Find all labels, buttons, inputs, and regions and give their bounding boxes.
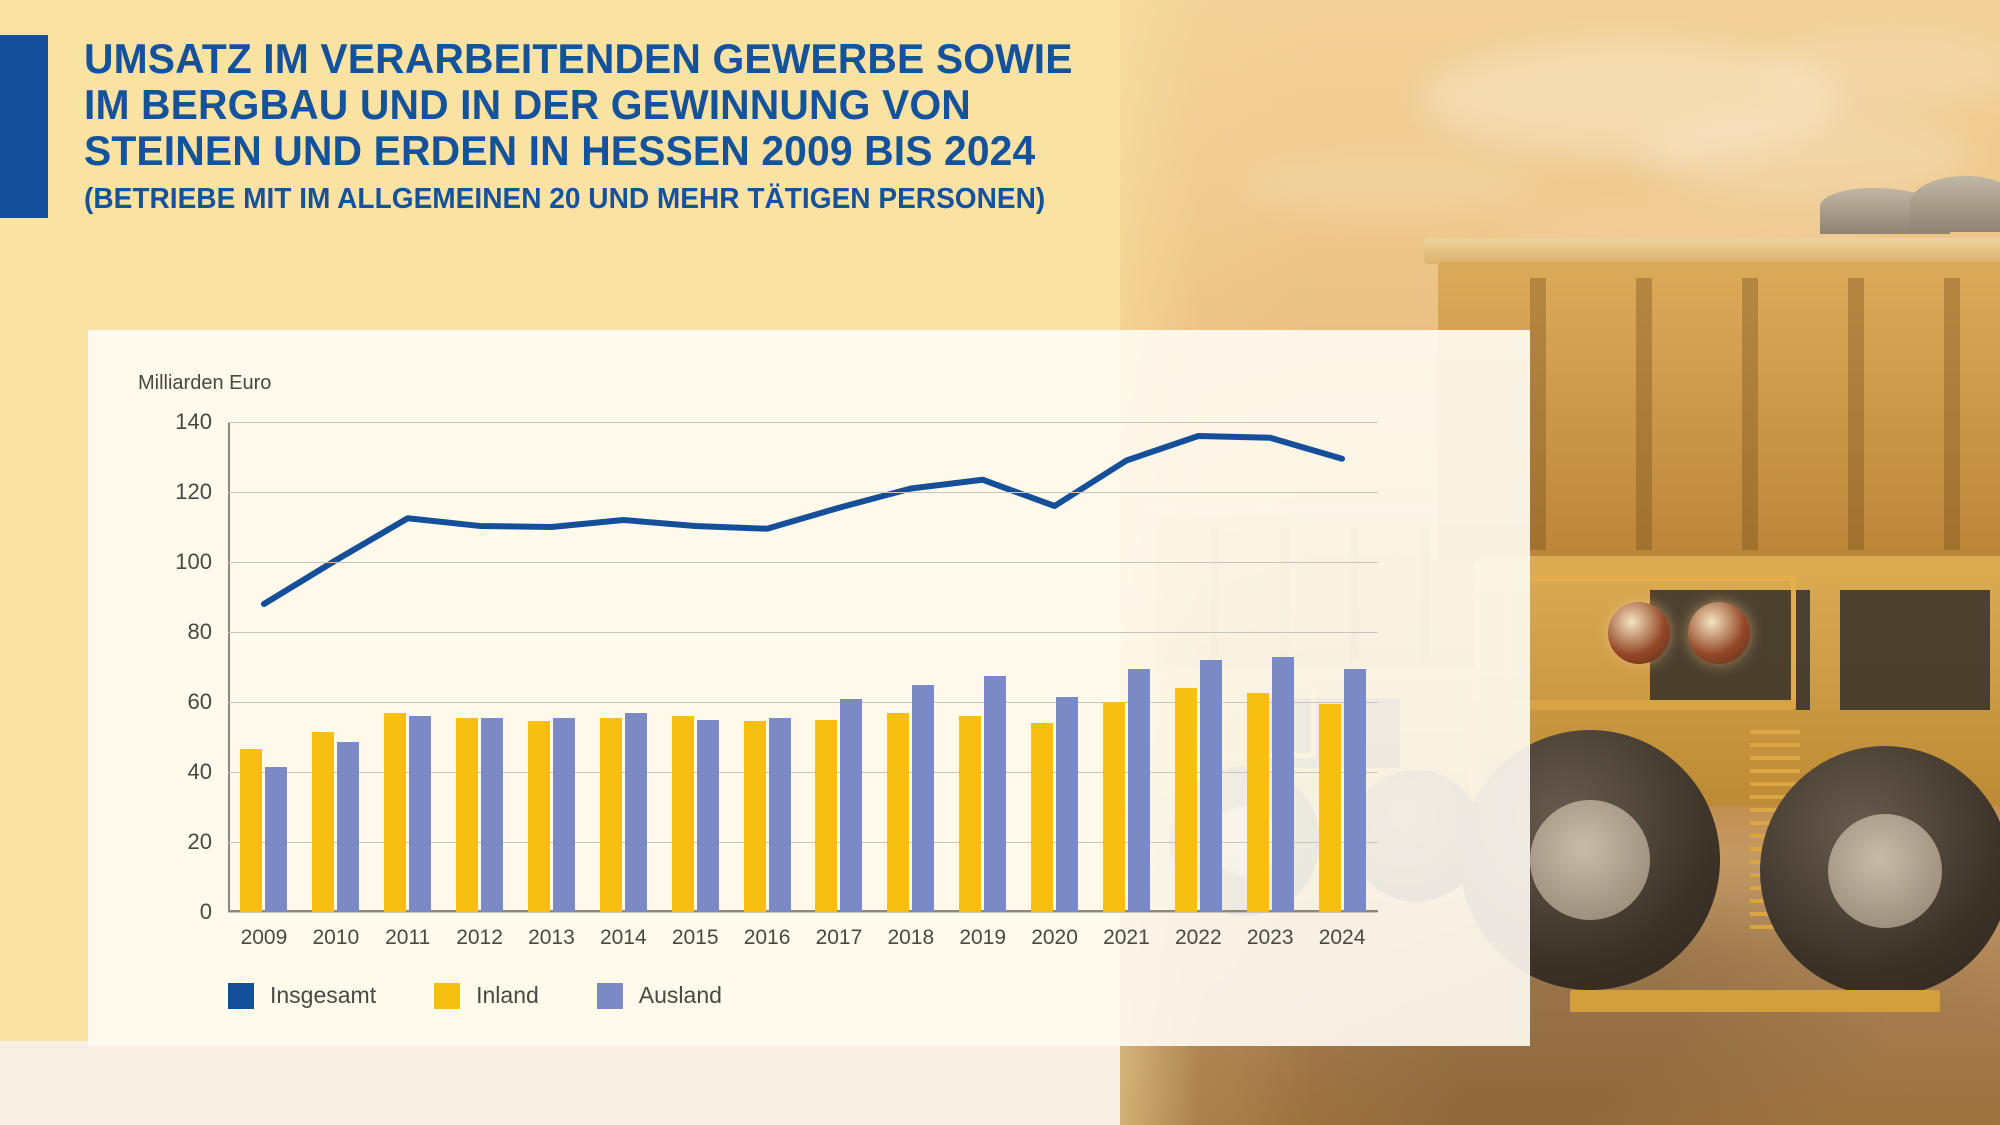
infographic-stage: UMSATZ IM VERARBEITENDEN GEWERBE SOWIE I… <box>0 0 2000 1125</box>
y-axis-tick-label: 140 <box>175 409 212 435</box>
legend-label: Ausland <box>639 982 722 1009</box>
bar-inland <box>887 713 909 913</box>
title-block: UMSATZ IM VERARBEITENDEN GEWERBE SOWIE I… <box>84 36 1094 216</box>
chart-legend: InsgesamtInlandAusland <box>228 982 780 1009</box>
bar-ausland <box>912 685 934 913</box>
accent-bar <box>0 35 48 218</box>
bar-inland <box>384 713 406 913</box>
y-axis-tick-label: 100 <box>175 549 212 575</box>
legend-swatch-icon <box>434 983 460 1009</box>
x-axis-tick-label: 2019 <box>959 926 1006 950</box>
x-axis-tick-label: 2011 <box>385 926 430 950</box>
bar-ausland <box>697 720 719 913</box>
bar-inland <box>1103 702 1125 912</box>
bar-ausland <box>265 767 287 912</box>
bar-ausland <box>1056 697 1078 912</box>
x-axis-tick-label: 2024 <box>1319 926 1366 950</box>
page-subtitle: (BETRIEBE MIT IM ALLGEMEINEN 20 UND MEHR… <box>84 182 1079 216</box>
cloud-shape <box>1240 150 1540 220</box>
bar-ausland <box>840 699 862 913</box>
gridline <box>228 562 1378 563</box>
y-axis-tick-label: 20 <box>188 829 212 855</box>
bar-inland <box>1247 693 1269 912</box>
legend-item-inland[interactable]: Inland <box>434 982 539 1009</box>
bar-inland <box>528 721 550 912</box>
bar-ausland <box>553 718 575 912</box>
bar-ausland <box>481 718 503 912</box>
bar-inland <box>456 718 478 912</box>
bar-inland <box>240 749 262 912</box>
x-axis-tick-label: 2017 <box>816 926 863 950</box>
bar-inland <box>672 716 694 912</box>
bar-inland <box>744 721 766 912</box>
y-axis-tick-label: 120 <box>175 479 212 505</box>
x-axis-tick-label: 2021 <box>1103 926 1150 950</box>
x-axis-tick-label: 2016 <box>744 926 791 950</box>
x-axis-tick-label: 2020 <box>1031 926 1078 950</box>
legend-swatch-icon <box>228 983 254 1009</box>
legend-label: Inland <box>476 982 539 1009</box>
gridline <box>228 492 1378 493</box>
x-axis-tick-labels: 2009201020112012201320142015201620172018… <box>228 926 1378 960</box>
x-axis-tick-label: 2023 <box>1247 926 1294 950</box>
bar-inland <box>815 720 837 913</box>
bar-ausland <box>769 718 791 912</box>
bar-inland <box>959 716 981 912</box>
bar-ausland <box>1200 660 1222 912</box>
legend-label: Insgesamt <box>270 982 376 1009</box>
bar-inland <box>600 718 622 912</box>
x-axis-tick-label: 2012 <box>456 926 503 950</box>
y-axis-tick-label: 0 <box>200 899 212 925</box>
bar-ausland <box>984 676 1006 912</box>
gridline <box>228 912 1378 913</box>
bar-ausland <box>625 713 647 913</box>
bar-inland <box>312 732 334 912</box>
y-axis-tick-label: 80 <box>188 619 212 645</box>
bar-ausland <box>1344 669 1366 912</box>
x-axis-tick-label: 2010 <box>312 926 359 950</box>
x-axis-tick-label: 2014 <box>600 926 647 950</box>
page-title: UMSATZ IM VERARBEITENDEN GEWERBE SOWIE I… <box>84 36 1079 174</box>
x-axis-tick-label: 2018 <box>887 926 934 950</box>
chart-plot-area: 020406080100120140 <box>228 422 1378 912</box>
legend-item-insgesamt[interactable]: Insgesamt <box>228 982 376 1009</box>
chart-card: Milliarden Euro 020406080100120140 20092… <box>88 330 1530 1046</box>
bar-inland <box>1319 704 1341 912</box>
x-axis-tick-label: 2009 <box>241 926 288 950</box>
bar-inland <box>1175 688 1197 912</box>
gridline <box>228 632 1378 633</box>
x-axis-tick-label: 2022 <box>1175 926 1222 950</box>
bar-inland <box>1031 723 1053 912</box>
rock-pile <box>1910 176 2000 232</box>
bar-ausland <box>1272 657 1294 913</box>
gridline <box>228 422 1378 423</box>
legend-item-ausland[interactable]: Ausland <box>597 982 722 1009</box>
y-axis-tick-label: 60 <box>188 689 212 715</box>
y-axis-tick-label: 40 <box>188 759 212 785</box>
bar-ausland <box>1128 669 1150 912</box>
legend-swatch-icon <box>597 983 623 1009</box>
x-axis-tick-label: 2015 <box>672 926 719 950</box>
x-axis-tick-label: 2013 <box>528 926 575 950</box>
bar-ausland <box>409 716 431 912</box>
y-axis-unit-label: Milliarden Euro <box>138 372 271 395</box>
bar-ausland <box>337 742 359 912</box>
